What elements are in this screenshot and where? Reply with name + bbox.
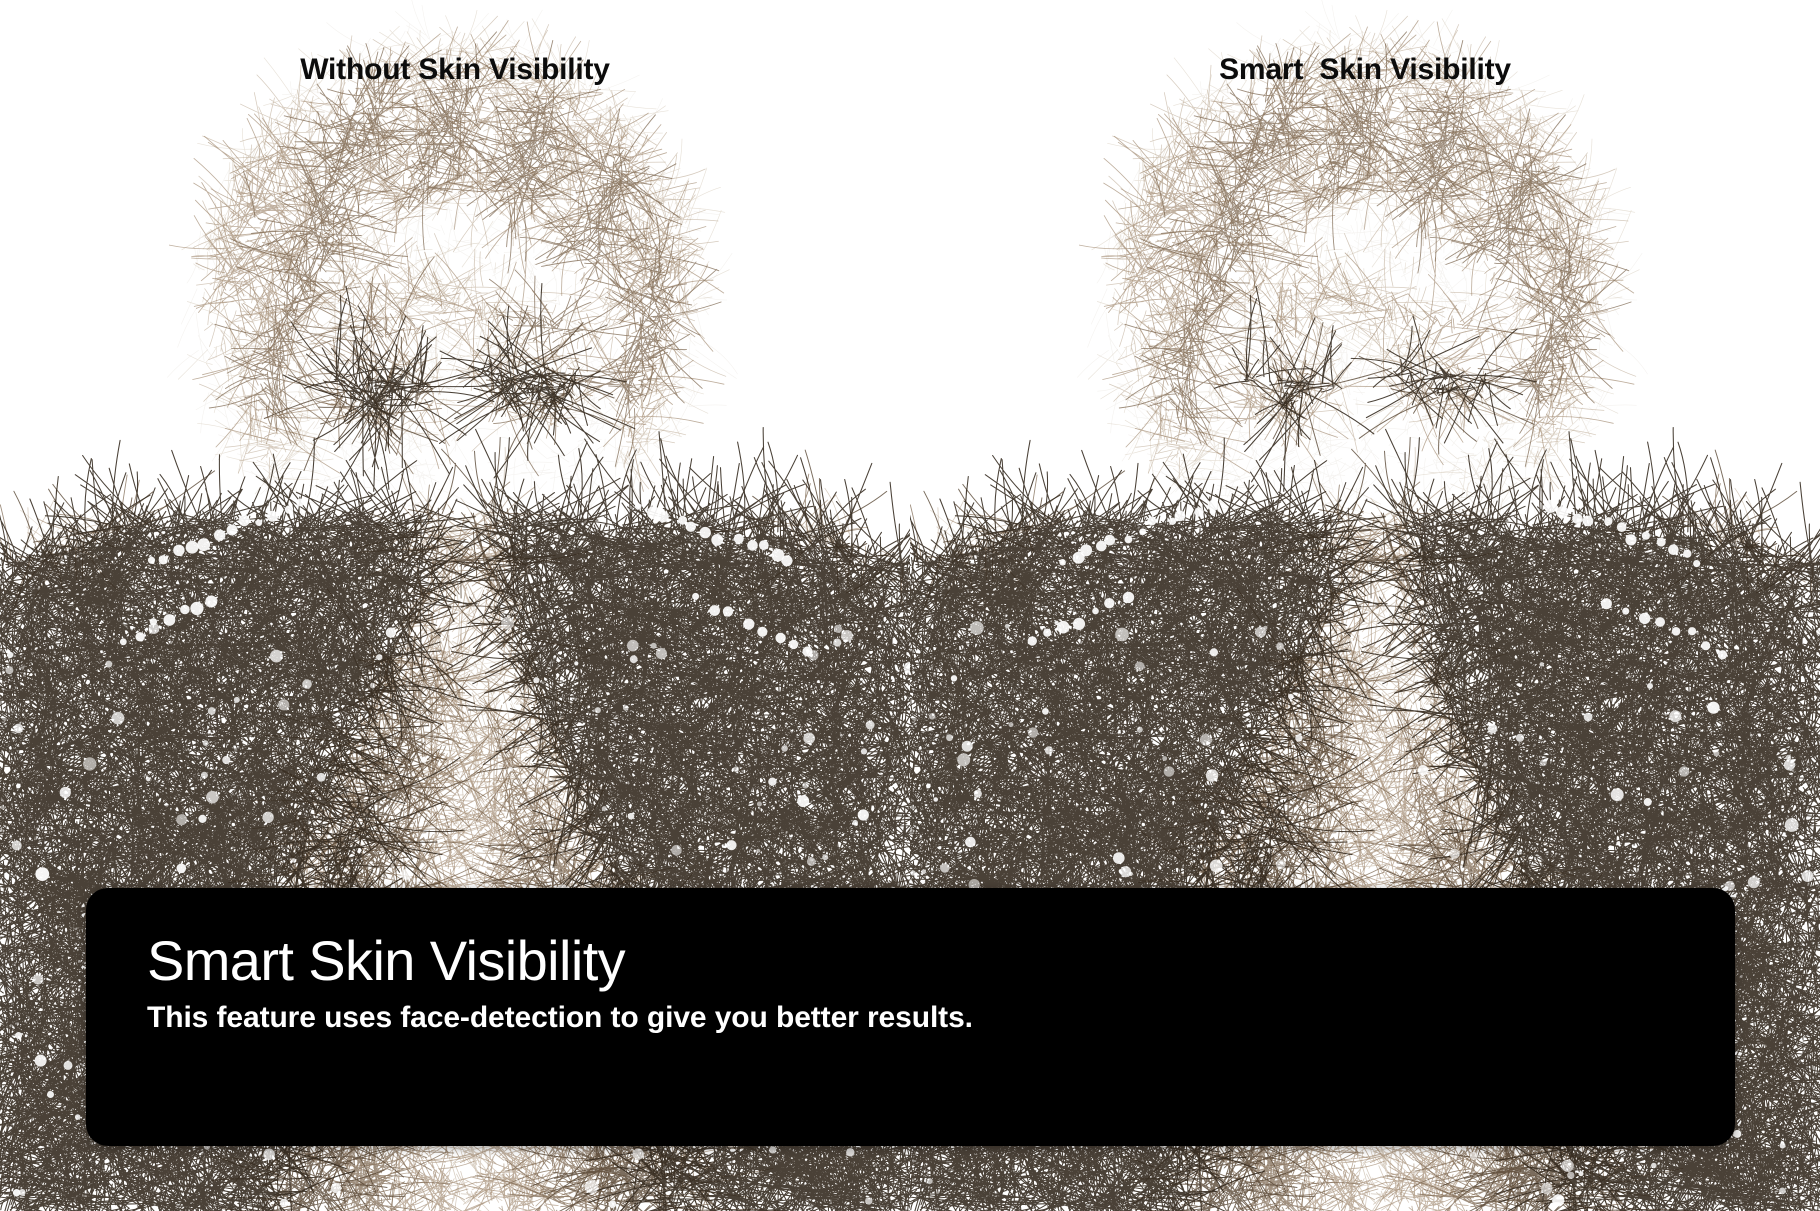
feature-info-card: Smart Skin Visibility This feature uses … [86,888,1735,1146]
header-label-right: Smart Skin Visibility [910,53,1820,87]
header-label-left: Without Skin Visibility [0,53,910,87]
comparison-screen: Without Skin Visibility Smart Skin Visib… [0,0,1820,1211]
feature-card-title: Smart Skin Visibility [147,932,625,989]
feature-card-subtitle: This feature uses face-detection to give… [147,1001,973,1035]
